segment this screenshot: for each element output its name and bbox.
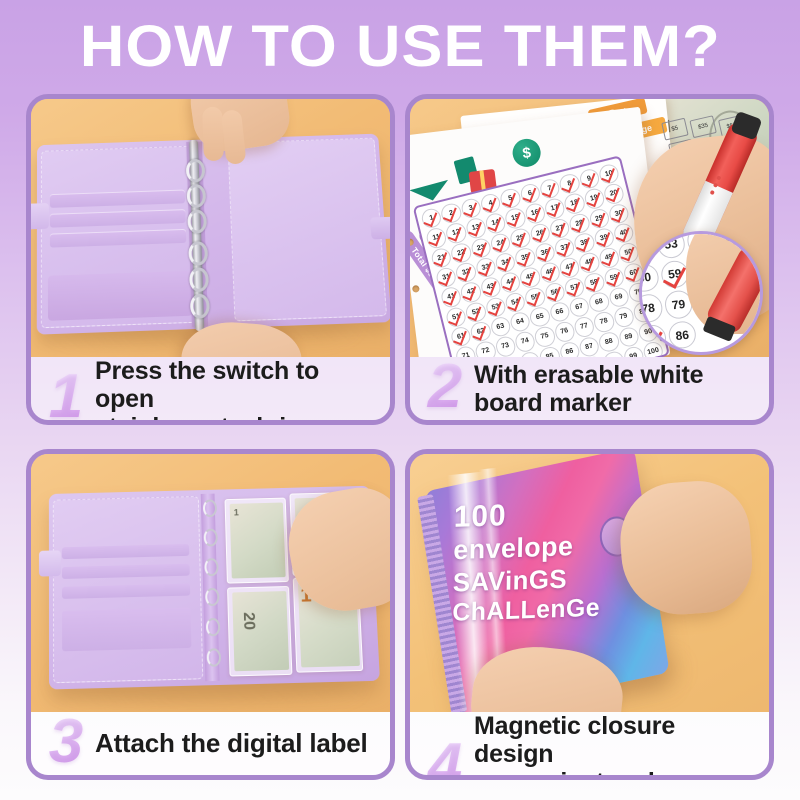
step-2-text: With erasable white board marker [474,361,703,417]
step-4-photo: 100 envelope SAVinGS ChALLenGe [410,454,769,712]
tracker-number-dot: 22 [449,241,472,264]
binder-ring [207,648,222,667]
tracker-number-dot: 35 [513,246,536,269]
tracker-sheet-front: Total $5050 100 Envelope Challenge Track… [410,107,670,357]
tracker-number-dot: 39 [592,226,615,249]
tracker-number-dot: 67 [568,295,591,318]
tracker-number-dot: 87 [577,335,600,357]
tracker-number-dot: 8 [558,172,581,195]
tracker-number-dot: 12 [444,221,467,244]
step-1-photo [31,99,390,357]
tracker-number-dot: 27 [548,217,571,240]
tracker-number-dot: 40 [612,222,635,245]
tracker-number-dot: 13 [464,217,487,240]
tracker-number-dot: 44 [499,271,522,294]
tracker-number-dot: 28 [568,212,591,235]
tracker-number-dot: 25 [509,226,532,249]
tracker-number-dot: 55 [523,286,546,309]
tracker-number-dot: 65 [528,305,551,328]
money-bag-icon [511,137,542,168]
tracker-number-dot: 16 [523,202,546,225]
step-4-text: Magnetic closure design convenient and p… [474,712,761,780]
bill-denomination: 1 [234,508,239,518]
tracker-number-dot: 9 [578,167,601,190]
tracker-number-dot: 62 [469,320,492,343]
binder-ring [204,529,218,547]
step-4-caption: 4 Magnetic closure design convenient and… [410,712,769,780]
cash-envelope: 20 [227,586,292,677]
zoom-inset-number-dot: 76 [639,323,667,354]
tracker-number-dot: 11 [425,226,448,249]
dollar-bill: 1 [230,503,286,579]
tracker-number-dot: 59 [602,266,625,289]
step-card-3: 1 5 20 100 [26,449,395,780]
page-title: HOW TO USE THEM? [80,18,721,76]
punch-hole [410,238,414,246]
zoom-inset-number-dot: 43 [639,232,656,263]
tracker-number-dot: 4 [479,192,502,215]
tracker-number-dot: 2 [440,202,463,225]
binder-ring [206,618,221,637]
step-2-caption: 2 With erasable white board marker [410,357,769,420]
card-slot [62,584,190,599]
tracker-number-dot: 23 [469,236,492,259]
tracker-number-dot: 52 [464,300,487,323]
tracker-number-dot: 66 [548,300,571,323]
tracker-number-dot: 51 [444,305,467,328]
tracker-number-dot: 49 [597,246,620,269]
tracker-number-dot: 37 [553,236,576,259]
binder-right-panel [227,138,387,322]
card-slot [50,209,186,228]
tracker-number-dot: 88 [597,330,620,353]
tracker-number-dot: 19 [582,187,605,210]
step-1-line1: Press the switch to open [95,357,319,413]
number-grid-dots: 1234567891011121314151617181920212223242… [420,162,665,357]
tracker-number-dot: 17 [543,197,566,220]
binder-pocket [62,608,191,652]
tracker-number-dot: 10 [597,162,620,185]
tracker-number-dot: 79 [612,305,635,328]
tracker-number-dot: 69 [607,286,630,309]
cover-line-2: envelope [453,530,601,567]
tracker-number-dot: 73 [494,335,517,357]
finger [202,107,224,162]
tracker-number-dot: 43 [479,276,502,299]
tracker-number-dot: 47 [558,256,581,279]
tracker-number-dot: 21 [430,246,453,269]
tracker-number-dot: 64 [508,310,531,333]
zoom-inset-number-dot: 50 [639,263,660,294]
step-1-text: Press the switch to open stainless steel… [95,357,382,425]
step-card-1: 1 Press the switch to open stainless ste… [26,94,395,425]
tracker-number-dot: 36 [533,241,556,264]
tracker-number-dot: 76 [553,320,576,343]
step-card-4: 100 envelope SAVinGS ChALLenGe 4 Magneti… [405,449,774,780]
tracker-number-dot: 6 [518,182,541,205]
elastic-pen-loop [39,550,61,576]
envelope-icon: $35 [689,115,716,138]
tracker-number-dot: 14 [484,212,507,235]
tracker-number-dot: 26 [528,221,551,244]
zoom-inset-number-dot: 53 [656,231,687,259]
binder-ring [205,588,219,606]
tracker-number-dot: 1 [420,207,443,230]
tracker-number-dot: 86 [558,340,581,357]
card-slot [62,564,190,579]
tracker-number-dot: 74 [513,330,536,353]
dollar-bill: 20 [232,591,289,671]
tracker-number-dot: 58 [582,271,605,294]
tracker-number-dot: 53 [484,295,507,318]
step-number-1: 1 [37,366,95,425]
binder-left-panel [41,145,204,328]
step-3-text: Attach the digital label [95,729,368,758]
step-number-3: 3 [37,711,95,773]
tracker-number-dot: 42 [459,281,482,304]
step-1-line2: stainless steel ring [95,413,382,425]
binder-strap [370,216,390,239]
step-3-photo: 1 5 20 100 [31,454,390,712]
step-2-line1: With erasable white [474,361,703,389]
binder-open [37,134,390,335]
binder-ring [204,558,218,576]
step-number-4: 4 [416,735,474,780]
step-4-line1: Magnetic closure design [474,712,675,768]
tracker-number-dot: 41 [440,285,463,308]
tracker-number-dot: 48 [577,251,600,274]
step-number-2: 2 [416,356,474,418]
tracker-number-dot: 45 [518,266,541,289]
step-4-line2: convenient and practical [474,768,761,780]
steps-grid: 1 Press the switch to open stainless ste… [26,94,774,780]
tracker-number-dot: 3 [459,197,482,220]
tracker-number-dot: 75 [533,325,556,348]
cover-title: 100 envelope SAVinGS ChALLenGe [452,495,602,629]
tracker-number-dot: 46 [538,261,561,284]
tracker-number-dot: 5 [499,187,522,210]
tracker-number-dot: 63 [489,315,512,338]
zoom-inset: 4353425251505941586178796777877686 [639,231,763,355]
tracker-number-dot: 29 [587,207,610,230]
binder-left-panel [53,496,203,683]
tracker-number-dot: 77 [573,315,596,338]
elastic-pen-loop [31,203,49,229]
step-card-2: 5 Day Challenge $200 $100 $100 $100 $100… [405,94,774,425]
tracker-number-dot: 56 [543,281,566,304]
card-slot [62,544,189,559]
card-slot [50,190,185,208]
page-header: HOW TO USE THEM? [0,0,800,94]
card-slot [50,229,186,248]
tracker-number-dot: 78 [592,310,615,333]
cover-line-3: SAVinGS [453,563,601,599]
tracker-number-dot: 20 [602,182,625,205]
tracker-number-dot: 31 [435,266,458,289]
tracker-number-dot: 57 [563,276,586,299]
bill-denomination: 20 [239,612,258,630]
tracker-number-dot: 18 [563,192,586,215]
tracker-number-dot: 32 [454,261,477,284]
number-grid: 1234567891011121314151617181920212223242… [413,155,670,357]
punch-hole [412,285,420,293]
tracker-number-dot: 34 [494,251,517,274]
binder-pocket [48,271,193,321]
tracker-number-dot: 24 [489,231,512,254]
tracker-number-dot: 38 [573,231,596,254]
tracker-number-dot: 33 [474,256,497,279]
zoom-inset-number-dot: 78 [639,293,664,324]
tracker-number-dot: 72 [474,340,497,357]
envelope-icon: $5 [661,118,688,141]
tracker-number-dot: 61 [449,325,472,348]
tracker-number-dot: 54 [504,290,527,313]
step-3-caption: 3 Attach the digital label [31,712,390,775]
step-3-line1: Attach the digital label [95,728,368,758]
tracker-number-dot: 68 [587,291,610,314]
tracker-number-dot: 89 [617,325,640,348]
tracker-number-dot: 15 [504,207,527,230]
cover-line-1: 100 [454,495,602,536]
binder-ring [203,499,217,517]
tracker-number-dot: 7 [538,177,561,200]
step-2-line2: board marker [474,389,703,417]
zoom-inset-number-dot: 86 [667,320,698,351]
cash-envelope: 1 [225,498,289,584]
step-1-caption: 1 Press the switch to open stainless ste… [31,357,390,425]
cover-line-4: ChALLenGe [452,593,600,628]
tracker-number-dot: 30 [607,202,630,225]
step-2-photo: 5 Day Challenge $200 $100 $100 $100 $100… [410,99,769,357]
